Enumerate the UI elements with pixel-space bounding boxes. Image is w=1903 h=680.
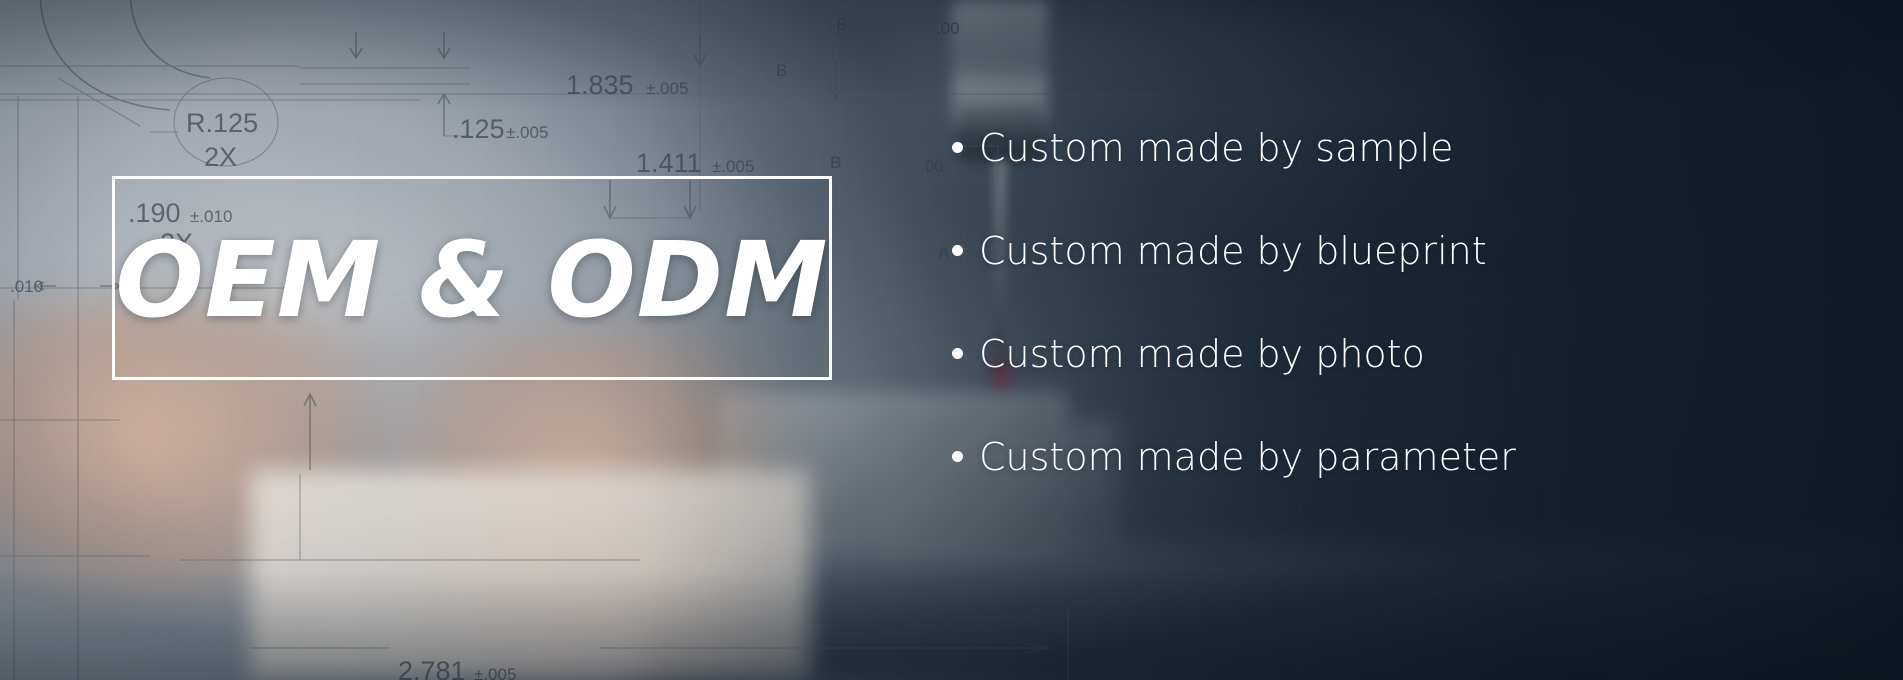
feature-label-parameter: Custom made by parameter xyxy=(979,438,1516,476)
feature-label-sample: Custom made by sample xyxy=(979,129,1453,167)
list-item: Custom made by sample xyxy=(952,96,1652,199)
oem-odm-hero-banner: R.125 2X .190 ±.010 2X 1.835 ±.005 .125 … xyxy=(0,0,1903,680)
bullet-dot-icon xyxy=(952,142,963,153)
feature-list: Custom made by sample Custom made by blu… xyxy=(952,96,1652,508)
list-item: Custom made by blueprint xyxy=(952,199,1652,302)
banner-content: OEM & ODM Custom made by sample Custom m… xyxy=(0,0,1903,680)
feature-label-blueprint: Custom made by blueprint xyxy=(979,232,1487,270)
feature-label-photo: Custom made by photo xyxy=(979,335,1425,373)
title-frame: OEM & ODM xyxy=(112,176,832,380)
bullet-dot-icon xyxy=(952,245,963,256)
list-item: Custom made by parameter xyxy=(952,405,1652,508)
page-title: OEM & ODM xyxy=(115,228,828,332)
bullet-dot-icon xyxy=(952,348,963,359)
bullet-dot-icon xyxy=(952,451,963,462)
list-item: Custom made by photo xyxy=(952,302,1652,405)
